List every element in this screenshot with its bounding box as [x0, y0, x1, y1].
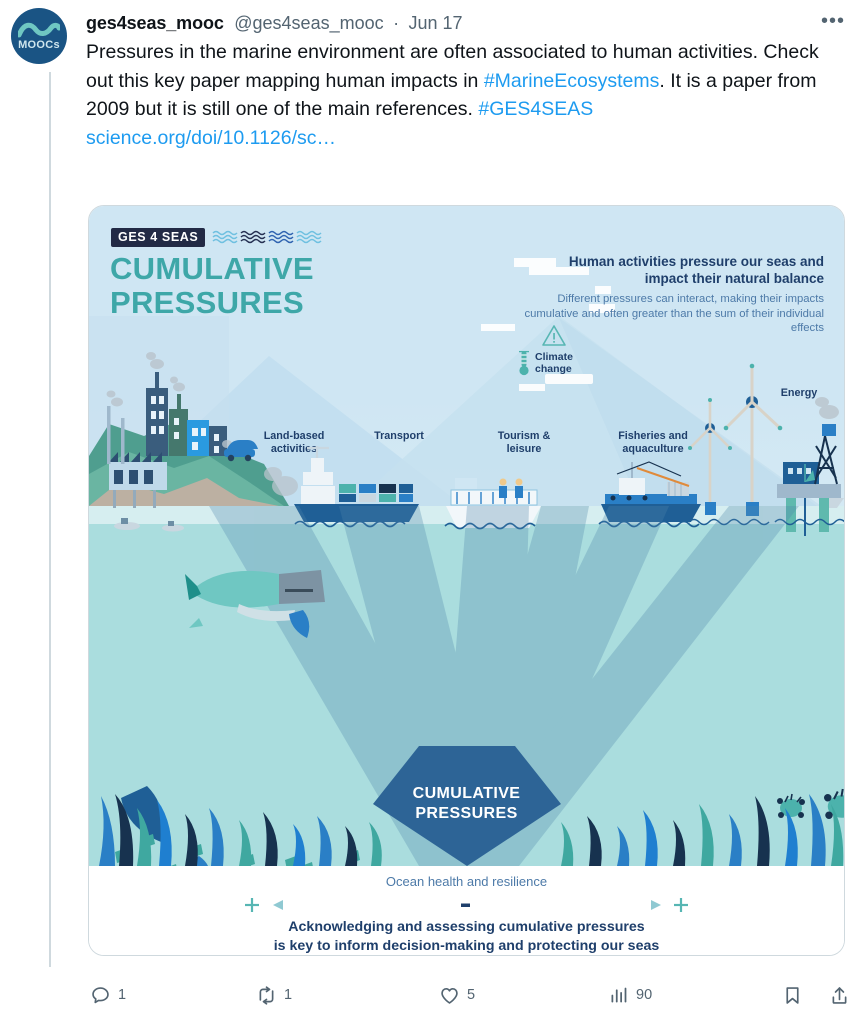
turtle-icon — [777, 794, 805, 818]
tweet-card: MOOCs ges4seas_mooc @ges4seas_mooc · Jun… — [0, 0, 859, 1030]
plus-icon-left — [245, 898, 259, 912]
tweet-actions: 1 1 5 90 — [86, 982, 846, 1016]
media-card[interactable]: GES 4 SEAS — [88, 205, 845, 956]
infographic-caption: Ocean health and resilience — [89, 866, 844, 955]
view-count: 90 — [636, 987, 652, 1003]
tweet-link[interactable]: science.org/doi/10.1126/sc… — [86, 127, 336, 149]
badge-line-1: CUMULATIVE — [413, 784, 521, 804]
more-options-icon[interactable]: ••• — [820, 14, 846, 34]
display-name[interactable]: ges4seas_mooc — [86, 10, 224, 36]
plus-icon-right — [674, 898, 688, 912]
health-resilience-axis — [89, 896, 844, 914]
hashtag-ges4seas[interactable]: #GES4SEAS — [478, 98, 593, 120]
tweet-header: ges4seas_mooc @ges4seas_mooc · Jun 17 — [86, 10, 839, 36]
retweet-button[interactable]: 1 — [256, 982, 292, 1008]
retweet-count: 1 — [284, 987, 292, 1003]
share-button[interactable] — [829, 982, 850, 1008]
analytics-icon — [608, 985, 629, 1006]
views-button[interactable]: 90 — [608, 982, 652, 1008]
like-button[interactable]: 5 — [439, 982, 475, 1008]
tagline-line-1: Acknowledging and assessing cumulative p… — [89, 918, 844, 937]
reply-count: 1 — [118, 987, 126, 1003]
like-count: 5 — [467, 987, 475, 1003]
cumulative-pressures-badge: CUMULATIVE PRESSURES — [413, 784, 521, 824]
heart-icon — [439, 985, 460, 1006]
tweet-date[interactable]: Jun 17 — [409, 10, 463, 36]
retweet-icon — [256, 985, 277, 1006]
bookmark-button[interactable] — [782, 982, 803, 1008]
avatar-label: MOOCs — [11, 39, 67, 51]
ray-icon — [289, 610, 309, 638]
account-handle[interactable]: @ges4seas_mooc — [234, 10, 383, 36]
avatar[interactable]: MOOCs — [11, 8, 67, 64]
wave-logo-icon — [18, 21, 60, 39]
hashtag-marineecosystems[interactable]: #MarineEcosystems — [484, 70, 660, 92]
separator-dot: · — [393, 10, 399, 36]
badge-line-2: PRESSURES — [413, 804, 521, 824]
share-icon — [829, 985, 850, 1006]
thread-line — [49, 72, 51, 967]
tagline-line-2: is key to inform decision-making and pro… — [89, 937, 844, 956]
ocean-health-label: Ocean health and resilience — [89, 874, 844, 889]
infographic-tagline: Acknowledging and assessing cumulative p… — [89, 918, 844, 956]
reply-button[interactable]: 1 — [90, 982, 126, 1008]
bookmark-icon — [782, 985, 803, 1006]
tweet-text: Pressures in the marine environment are … — [86, 38, 828, 152]
infographic: GES 4 SEAS — [89, 206, 844, 866]
reply-icon — [90, 985, 111, 1006]
